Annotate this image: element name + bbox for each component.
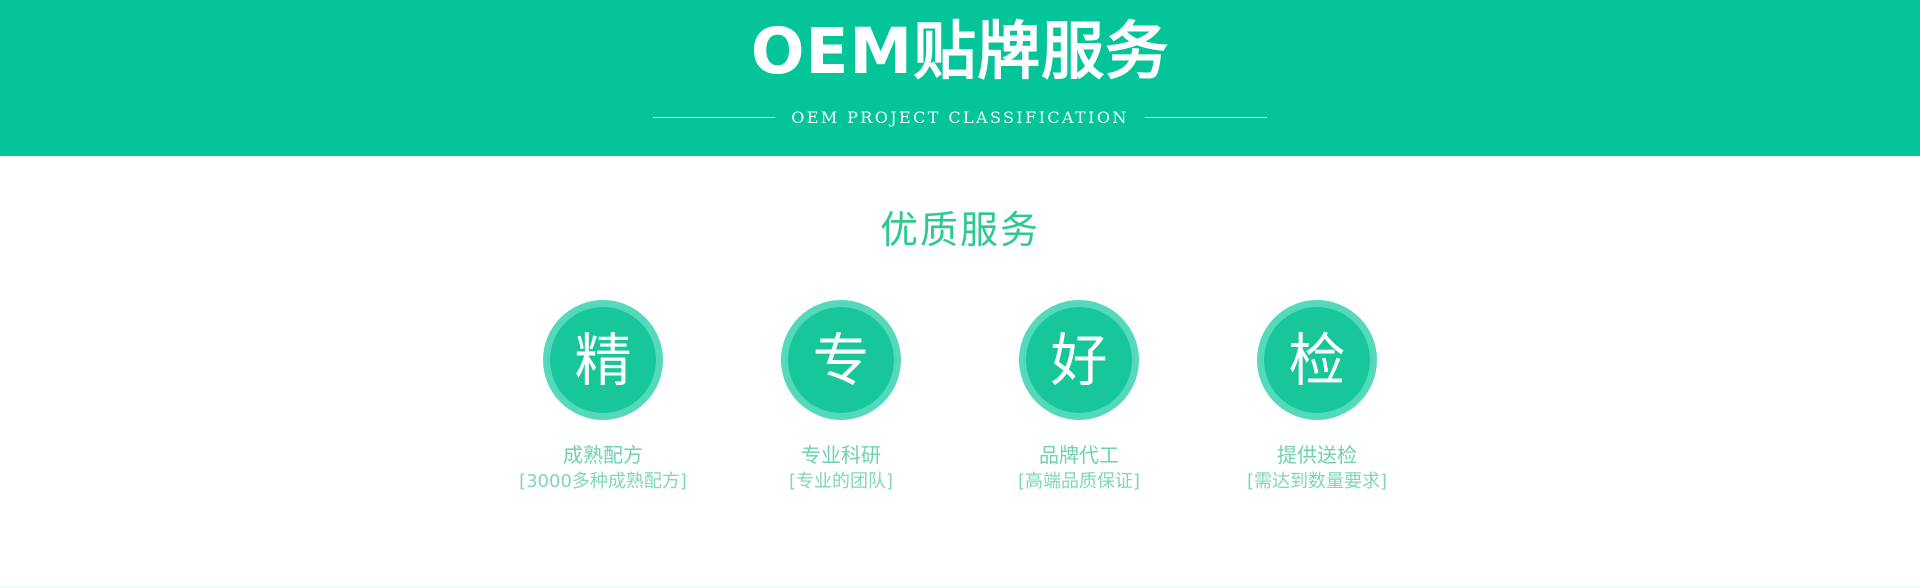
badge-circle: 好 (1019, 300, 1139, 420)
badge-glyph-icon: 精 (575, 333, 632, 390)
badge-note: [3000多种成熟配方] (519, 470, 687, 494)
badge-glyph-icon: 检 (1289, 333, 1346, 390)
service-badge-list: 精 成熟配方 [3000多种成熟配方] 专 专业科研 [专业的团队] 好 品牌代… (0, 300, 1920, 494)
section-heading: 优质服务 (0, 205, 1920, 255)
page-banner: OEM贴牌服务 OEM PROJECT CLASSIFICATION (0, 0, 1920, 156)
divider-line-left (653, 117, 775, 118)
badge-glyph-icon: 专 (813, 333, 870, 390)
badge-circle: 专 (781, 300, 901, 420)
banner-title: OEM贴牌服务 (0, 10, 1920, 94)
badge-glyph-icon: 好 (1051, 333, 1108, 390)
banner-subtitle: OEM PROJECT CLASSIFICATION (791, 108, 1129, 127)
badge-circle: 检 (1257, 300, 1377, 420)
oem-service-page: OEM贴牌服务 OEM PROJECT CLASSIFICATION 优质服务 … (0, 0, 1920, 588)
service-badge[interactable]: 精 成熟配方 [3000多种成熟配方] (505, 300, 701, 494)
badge-note: [专业的团队] (789, 470, 893, 494)
service-badge[interactable]: 专 专业科研 [专业的团队] (743, 300, 939, 494)
badge-note: [高端品质保证] (1018, 470, 1140, 494)
badge-circle: 精 (543, 300, 663, 420)
badge-note: [需达到数量要求] (1247, 470, 1387, 494)
service-badge[interactable]: 检 提供送检 [需达到数量要求] (1219, 300, 1415, 494)
service-badge[interactable]: 好 品牌代工 [高端品质保证] (981, 300, 1177, 494)
badge-title: 专业科研 (801, 442, 881, 468)
badge-title: 提供送检 (1277, 442, 1357, 468)
badge-title: 品牌代工 (1039, 442, 1119, 468)
banner-subtitle-row: OEM PROJECT CLASSIFICATION (0, 108, 1920, 127)
badge-title: 成熟配方 (563, 442, 643, 468)
divider-line-right (1145, 117, 1267, 118)
